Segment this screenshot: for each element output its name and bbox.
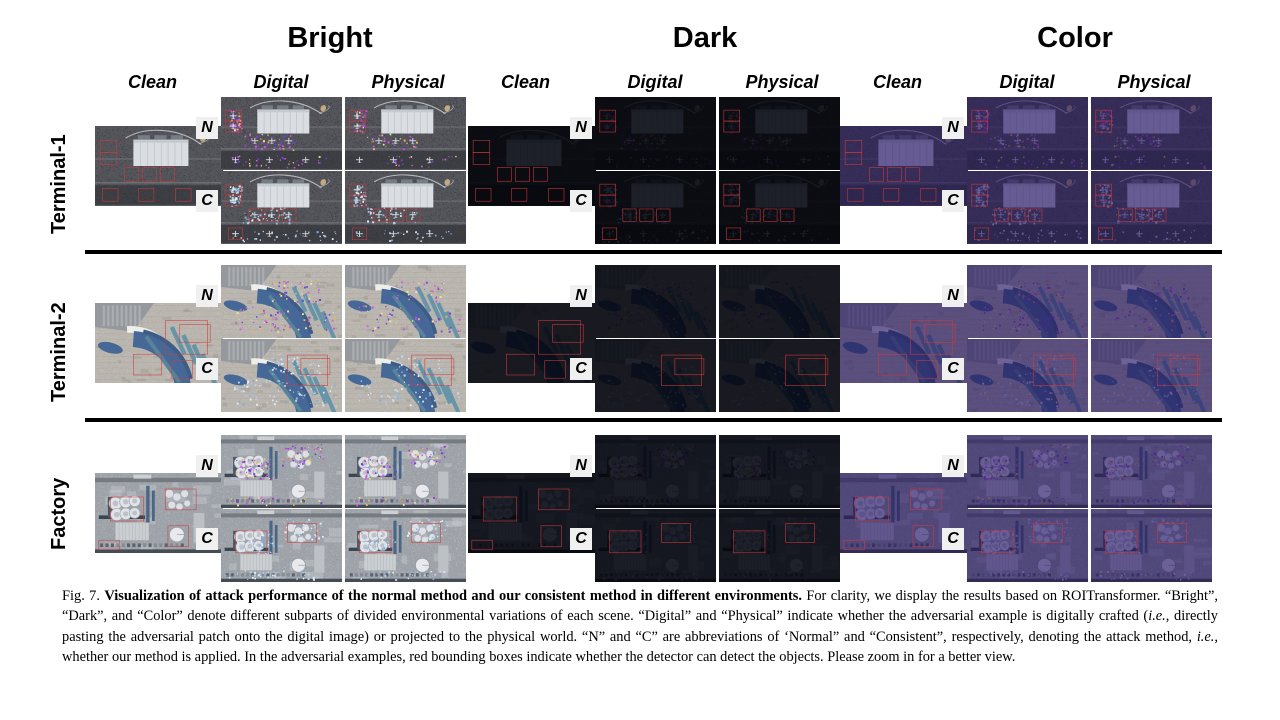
caption-bold-title: Visualization of attack performance of t… [104,588,802,604]
method-tag-c-factory-bright: C [196,528,218,550]
method-tag-c-factory-color: C [942,528,964,550]
column-title-bright-digital: Digital [221,72,341,93]
method-tag-c-terminal2-dark: C [570,358,592,380]
method-tag-n-factory-dark: N [570,455,592,477]
row-divider-2 [85,418,1222,422]
method-tag-c-terminal1-dark: C [570,190,592,212]
panel-factory-color-physical-c [1091,509,1212,582]
row-label-factory: Factory [48,478,71,550]
panel-terminal2-dark-physical-n [719,265,840,338]
panel-terminal2-dark-digital-c [595,339,716,412]
group-title-bright: Bright [190,22,470,55]
caption-figure-number: Fig. 7. [62,588,100,604]
method-tag-c-factory-dark: C [570,528,592,550]
panel-factory-bright-physical-n [345,435,466,508]
method-tag-c-terminal1-color: C [942,190,964,212]
panel-terminal1-bright-digital-c [221,171,342,244]
panel-terminal1-dark-digital-c [595,171,716,244]
column-title-dark-digital: Digital [595,72,715,93]
panel-factory-bright-digital-c [221,509,342,582]
panel-terminal1-dark-digital-n [595,97,716,170]
method-tag-n-terminal1-color: N [942,117,964,139]
figure-panel: Bright Dark Color Clean Digital Physical… [0,0,1280,720]
method-tag-c-terminal2-bright: C [196,358,218,380]
panel-factory-bright-physical-c [345,509,466,582]
column-title-bright-clean: Clean [95,72,210,93]
panel-terminal1-color-digital-n [967,97,1088,170]
panel-terminal2-color-digital-n [967,265,1088,338]
group-title-dark: Dark [565,22,845,55]
panel-factory-dark-digital-n [595,435,716,508]
method-tag-c-terminal1-bright: C [196,190,218,212]
panel-terminal2-bright-digital-n [221,265,342,338]
column-title-color-digital: Digital [967,72,1087,93]
method-tag-n-terminal2-bright: N [196,285,218,307]
panel-terminal1-bright-physical-c [345,171,466,244]
column-title-color-physical: Physical [1094,72,1214,93]
panel-factory-color-digital-n [967,435,1088,508]
panel-terminal1-bright-physical-n [345,97,466,170]
row-label-terminal-1: Terminal-1 [48,134,71,234]
row-divider-1 [85,250,1222,254]
column-title-bright-physical: Physical [348,72,468,93]
panel-terminal1-color-digital-c [967,171,1088,244]
column-title-dark-physical: Physical [722,72,842,93]
panel-terminal1-dark-physical-c [719,171,840,244]
panel-terminal2-bright-physical-c [345,339,466,412]
panel-terminal2-color-physical-n [1091,265,1212,338]
method-tag-n-terminal2-color: N [942,285,964,307]
column-title-dark-clean: Clean [468,72,583,93]
panel-terminal2-color-physical-c [1091,339,1212,412]
panel-factory-color-digital-c [967,509,1088,582]
panel-terminal2-color-digital-c [967,339,1088,412]
panel-terminal1-bright-digital-n [221,97,342,170]
panel-terminal1-dark-physical-n [719,97,840,170]
method-tag-c-terminal2-color: C [942,358,964,380]
caption-italic-1: i.e., [1148,608,1169,624]
panel-factory-dark-digital-c [595,509,716,582]
panel-terminal2-dark-digital-n [595,265,716,338]
caption-body-3: whether our method is applied. In the ad… [62,649,1015,665]
method-tag-n-factory-color: N [942,455,964,477]
panel-factory-dark-physical-c [719,509,840,582]
panel-factory-color-physical-n [1091,435,1212,508]
caption-italic-2: i.e., [1197,629,1218,645]
panel-terminal2-dark-physical-c [719,339,840,412]
panel-terminal2-bright-digital-c [221,339,342,412]
panel-terminal2-bright-physical-n [345,265,466,338]
panel-factory-bright-digital-n [221,435,342,508]
panel-terminal1-color-physical-n [1091,97,1212,170]
panel-terminal1-color-physical-c [1091,171,1212,244]
column-title-color-clean: Clean [840,72,955,93]
method-tag-n-factory-bright: N [196,455,218,477]
method-tag-n-terminal2-dark: N [570,285,592,307]
method-tag-n-terminal1-dark: N [570,117,592,139]
panel-factory-dark-physical-n [719,435,840,508]
group-title-color: Color [935,22,1215,55]
method-tag-n-terminal1-bright: N [196,117,218,139]
figure-caption: Fig. 7. Visualization of attack performa… [62,586,1218,668]
row-label-terminal-2: Terminal-2 [48,302,71,402]
